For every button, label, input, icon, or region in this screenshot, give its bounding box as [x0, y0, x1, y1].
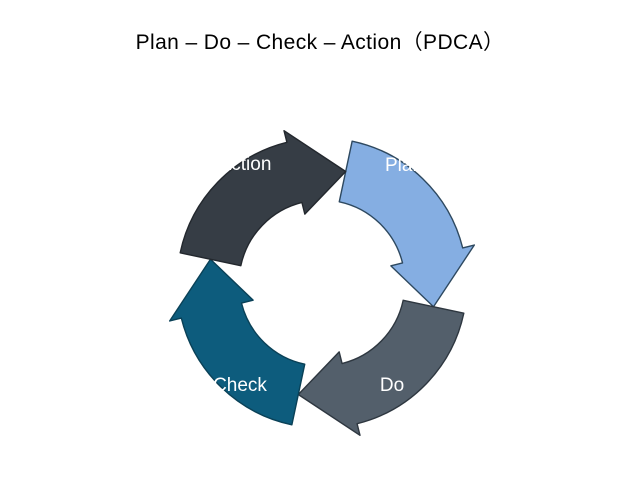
pdca-cycle-diagram: Plan Do Check Action — [0, 0, 640, 480]
do-arrow-shape — [298, 300, 464, 435]
cycle-segment-plan-label: Plan — [385, 155, 423, 176]
cycle-segment-action[interactable]: Action — [180, 131, 346, 266]
check-arrow-shape — [170, 259, 305, 425]
cycle-segment-check-label: Check — [213, 375, 267, 396]
action-arrow-shape — [180, 131, 346, 266]
cycle-segment-do-label: Do — [380, 375, 404, 396]
slide-canvas: Plan – Do – Check – Action（PDCA） Plan Do… — [0, 0, 640, 480]
cycle-segment-do[interactable]: Do — [298, 300, 464, 435]
cycle-segment-check[interactable]: Check — [170, 259, 305, 425]
cycle-segment-action-label: Action — [219, 154, 272, 175]
cycle-segment-plan[interactable]: Plan — [339, 141, 474, 307]
